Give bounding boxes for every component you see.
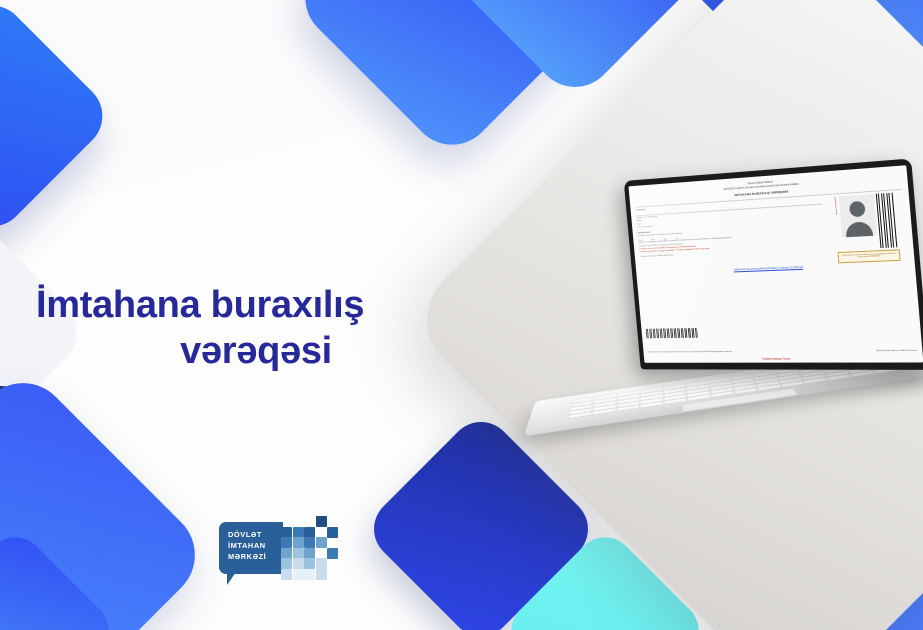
logo-pixel [304,558,315,569]
logo-pixel [304,548,315,559]
barcode-icon-horizontal [646,328,698,338]
logo-pixel [316,569,327,580]
logo-text: DÖVLƏT İMTAHAN MƏRKƏZİ [228,529,266,562]
promo-banner: Dövlət İmtahan Mərkəzi 2024/2025-ci tədr… [0,0,923,630]
logo-pixel [281,558,292,569]
page-title-line-2: vərəqəsi [36,328,476,374]
page-title-line-1: İmtahana buraxılış [36,284,364,326]
person-silhouette-icon [839,193,878,236]
logo-pixel [281,569,292,580]
logo-pixel [316,558,327,569]
logo-pixel [281,548,292,559]
document-warning-box: Çevik nəsnəni, audio təkrarlanan və təsi… [837,249,900,263]
document-footer-right: Vidadi Xəlilovun Azərsun, Bakıcəl, Naxva… [876,350,917,352]
logo-pixel [304,569,315,580]
logo-pixel [327,527,338,538]
logo-pixel-mosaic [281,516,339,580]
laptop-screen: Dövlət İmtahan Mərkəzi 2024/2025-ci tədr… [628,165,923,363]
document-signature: "Yoxlayıcı kitabçası" imzası [644,358,923,361]
document-footer-left: Bu imtahana aid olmayan məlumat öyrənmək… [648,351,733,353]
logo-pixel [293,537,304,548]
logo: DÖVLƏT İMTAHAN MƏRKƏZİ [219,516,339,592]
logo-pixel [327,548,338,559]
logo-pixel [293,569,304,580]
document-footer: Bu imtahana aid olmayan məlumat öyrənmək… [648,350,917,353]
admission-document: Dövlət İmtahan Mərkəzi 2024/2025-ci tədr… [628,165,923,363]
laptop-lid: Dövlət İmtahan Mərkəzi 2024/2025-ci tədr… [624,158,923,369]
logo-line-2: İMTAHAN [228,540,266,551]
logo-pixel [316,537,327,548]
logo-pixel [304,537,315,548]
barcode-icon [876,192,898,247]
document-fields: İş nömrəsi Soyadı, adı, atasının adı Böl… [636,197,828,271]
document-photo-area: Şəxsin fotoşəkli Çevik nəsnəni, audio tə… [825,192,908,264]
logo-pixel [293,527,304,538]
logo-pixel [293,558,304,569]
laptop-mockup: Dövlət İmtahan Mərkəzi 2024/2025-ci tədr… [498,151,923,460]
logo-bubble-tail [227,572,236,585]
logo-pixel [293,548,304,559]
logo-pixel [281,527,292,538]
logo-pixel [281,537,292,548]
page-title: İmtahana buraxılış vərəqəsi [36,282,476,374]
logo-line-1: DÖVLƏT [228,529,266,540]
photo-side-label: Şəxsin fotoşəkli [835,196,839,214]
photo-and-barcode: Şəxsin fotoşəkli [835,192,898,249]
logo-line-3: MƏRKƏZİ [228,551,266,562]
logo-pixel [304,527,315,538]
logo-pixel [316,516,327,527]
